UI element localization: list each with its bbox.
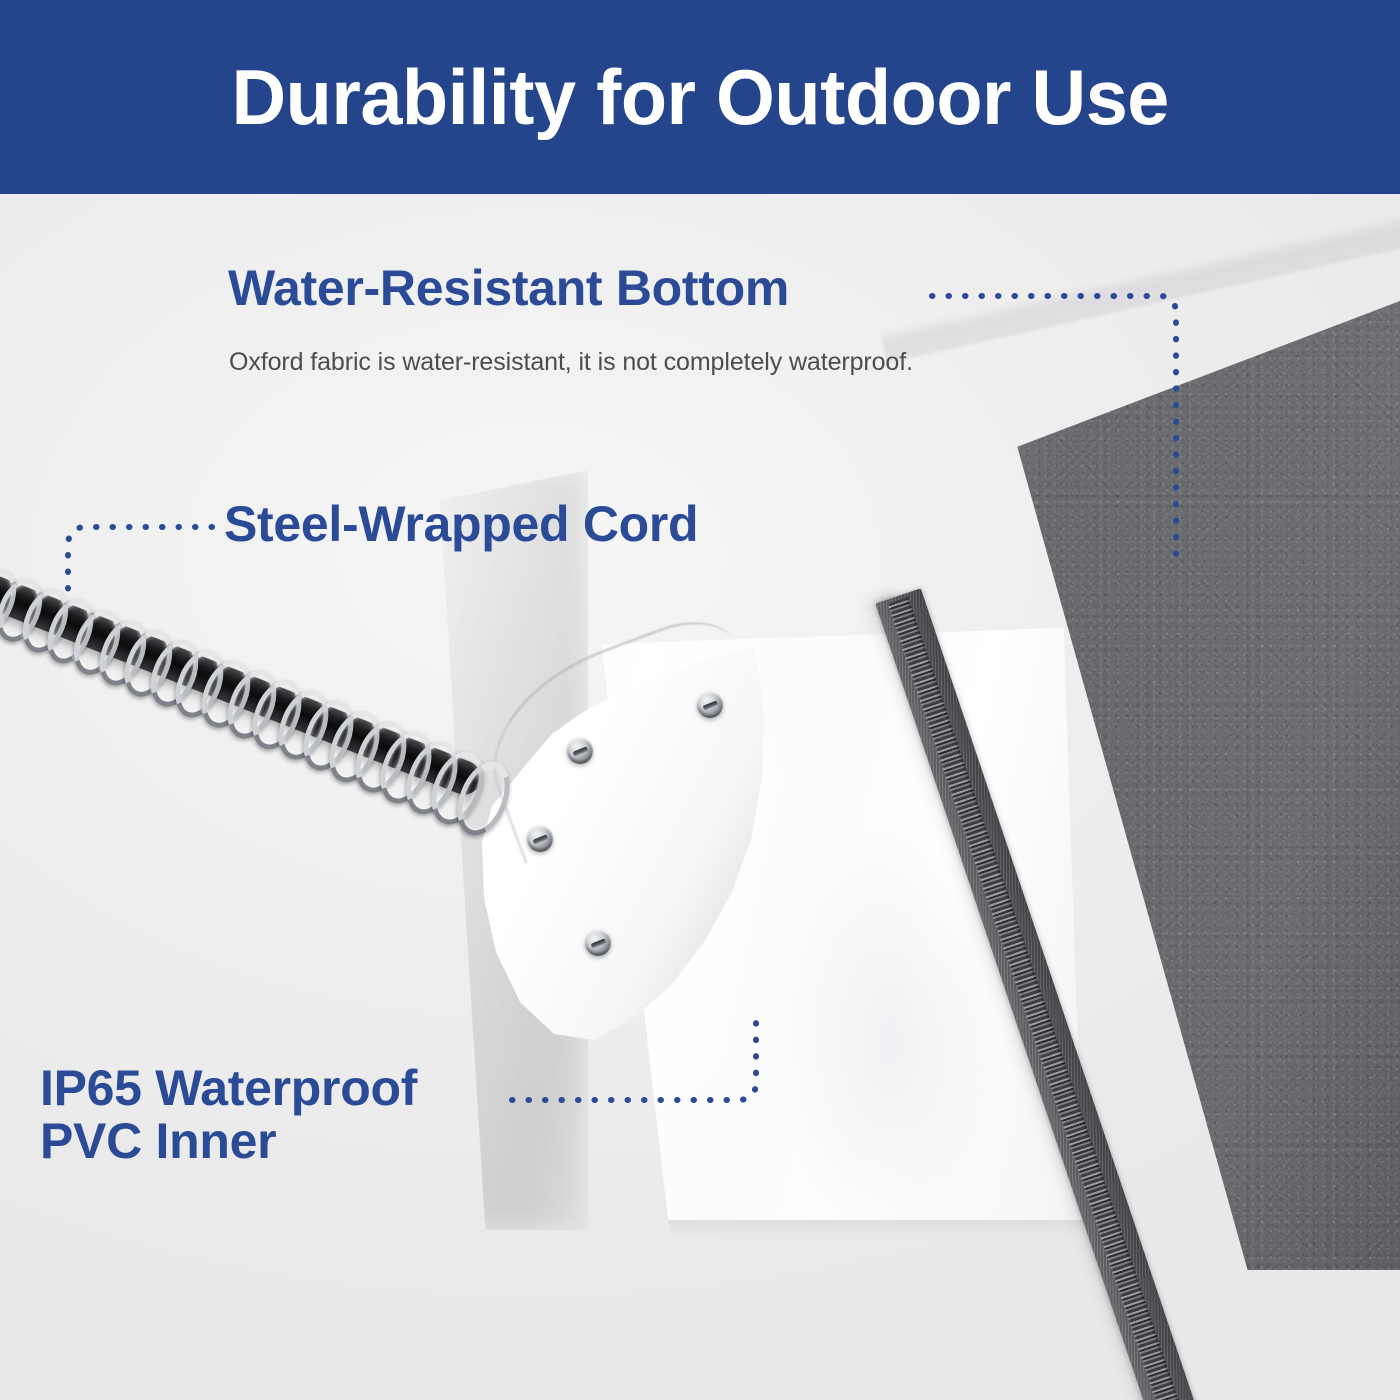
callout-title-line-1: IP65 Waterproof	[40, 1062, 417, 1115]
screw	[585, 930, 611, 956]
callout-title-steel-wrapped-cord: Steel-Wrapped Cord	[224, 498, 698, 551]
page-title: Durability for Outdoor Use	[231, 58, 1168, 136]
callout-title-line-2: PVC Inner	[40, 1115, 417, 1168]
callout-title-water-resistant-bottom: Water-Resistant Bottom	[228, 262, 789, 315]
screw	[527, 826, 553, 852]
callout-subtitle-water-resistant-bottom: Oxford fabric is water-resistant, it is …	[229, 348, 913, 377]
callout-title-ip65-pvc-inner: IP65 Waterproof PVC Inner	[40, 1062, 417, 1168]
infographic-page: Durability for Outdoor Use Water-Resista…	[0, 0, 1400, 1400]
header-banner: Durability for Outdoor Use	[0, 0, 1400, 194]
screw	[567, 738, 593, 764]
screw	[697, 692, 723, 718]
steel-wrapped-cord	[0, 548, 550, 808]
